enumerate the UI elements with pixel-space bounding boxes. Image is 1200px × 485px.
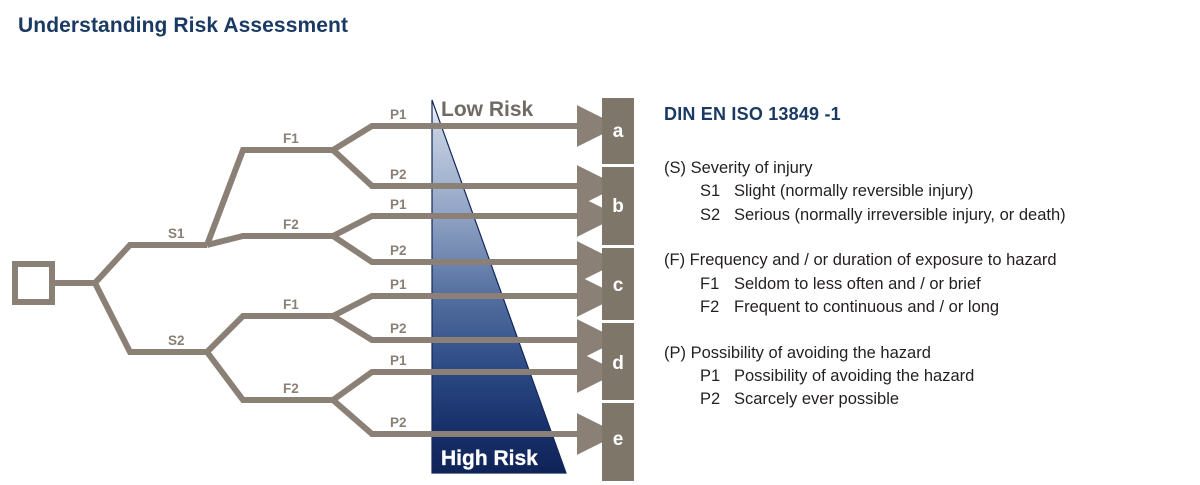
possibility-label-8: P2 (390, 415, 407, 430)
severity-label-s2: S2 (168, 333, 185, 348)
possibility-label-6: P2 (390, 321, 407, 336)
legend-item-text: Frequent to continuous and / or long (734, 296, 999, 319)
risk-triangle (432, 100, 566, 473)
category-boxes: a b c d e (602, 98, 634, 481)
possibility-label-5: P1 (390, 277, 407, 292)
legend-group-heading: (P) Possibility of avoiding the hazard (664, 342, 1194, 365)
legend-group-heading: (S) Severity of injury (664, 157, 1194, 180)
possibility-label-1: P1 (390, 107, 407, 122)
legend-item-code: S1 (700, 180, 734, 203)
legend-group-severity: (S) Severity of injury S1 Slight (normal… (664, 157, 1194, 227)
legend-item-p2: P2 Scarcely ever possible (664, 388, 1194, 411)
category-box-label-b: b (612, 196, 624, 217)
frequency-label-f1-s1: F1 (283, 131, 299, 146)
category-box-e: e (602, 403, 634, 481)
start-square (15, 264, 52, 302)
high-risk-label: High Risk (441, 447, 538, 470)
legend-item-text: Scarcely ever possible (734, 388, 899, 411)
category-box-a: a (602, 98, 634, 164)
legend-item-f2: F2 Frequent to continuous and / or long (664, 296, 1194, 319)
category-box-d: d (602, 323, 634, 400)
legend-group-frequency: (F) Frequency and / or duration of expos… (664, 249, 1194, 319)
standard-title: DIN EN ISO 13849 -1 (664, 104, 1194, 125)
low-risk-label: Low Risk (441, 98, 534, 121)
legend-group-possibility: (P) Possibility of avoiding the hazard P… (664, 342, 1194, 412)
frequency-label-f2-s1: F2 (283, 217, 299, 232)
legend-item-p1: P1 Possibility of avoiding the hazard (664, 365, 1194, 388)
frequency-label-f2-s2: F2 (283, 381, 299, 396)
legend-group-heading: (F) Frequency and / or duration of expos… (664, 249, 1194, 272)
legend-item-f1: F1 Seldom to less often and / or brief (664, 273, 1194, 296)
decision-tree-branches (52, 126, 432, 434)
legend-item-text: Slight (normally reversible injury) (734, 180, 973, 203)
category-box-label-c: c (613, 275, 624, 296)
possibility-label-7: P1 (390, 353, 407, 368)
category-box-c: c (602, 248, 634, 320)
legend-item-code: S2 (700, 204, 734, 227)
category-box-label-a: a (613, 121, 624, 142)
frequency-label-f1-s2: F1 (283, 297, 299, 312)
legend-item-code: P1 (700, 365, 734, 388)
legend-item-code: F1 (700, 273, 734, 296)
legend-item-text: Seldom to less often and / or brief (734, 273, 981, 296)
legend-item-code: P2 (700, 388, 734, 411)
legend-item-code: F2 (700, 296, 734, 319)
legend-item-text: Serious (normally irreversible injury, o… (734, 204, 1066, 227)
severity-label-s1: S1 (168, 226, 185, 241)
possibility-label-4: P2 (390, 243, 407, 258)
category-box-b: b (602, 167, 634, 245)
possibility-label-2: P2 (390, 167, 407, 182)
legend-panel: DIN EN ISO 13849 -1 (S) Severity of inju… (664, 104, 1194, 412)
legend-item-s1: S1 Slight (normally reversible injury) (664, 180, 1194, 203)
legend-item-text: Possibility of avoiding the hazard (734, 365, 974, 388)
category-box-label-e: e (613, 429, 624, 450)
risk-graph-diagram: S1 S2 F1 F2 F1 F2 P1 P2 P1 P2 P1 P2 P1 P… (0, 0, 660, 485)
possibility-label-3: P1 (390, 197, 407, 212)
legend-item-s2: S2 Serious (normally irreversible injury… (664, 204, 1194, 227)
category-box-label-d: d (612, 353, 624, 374)
